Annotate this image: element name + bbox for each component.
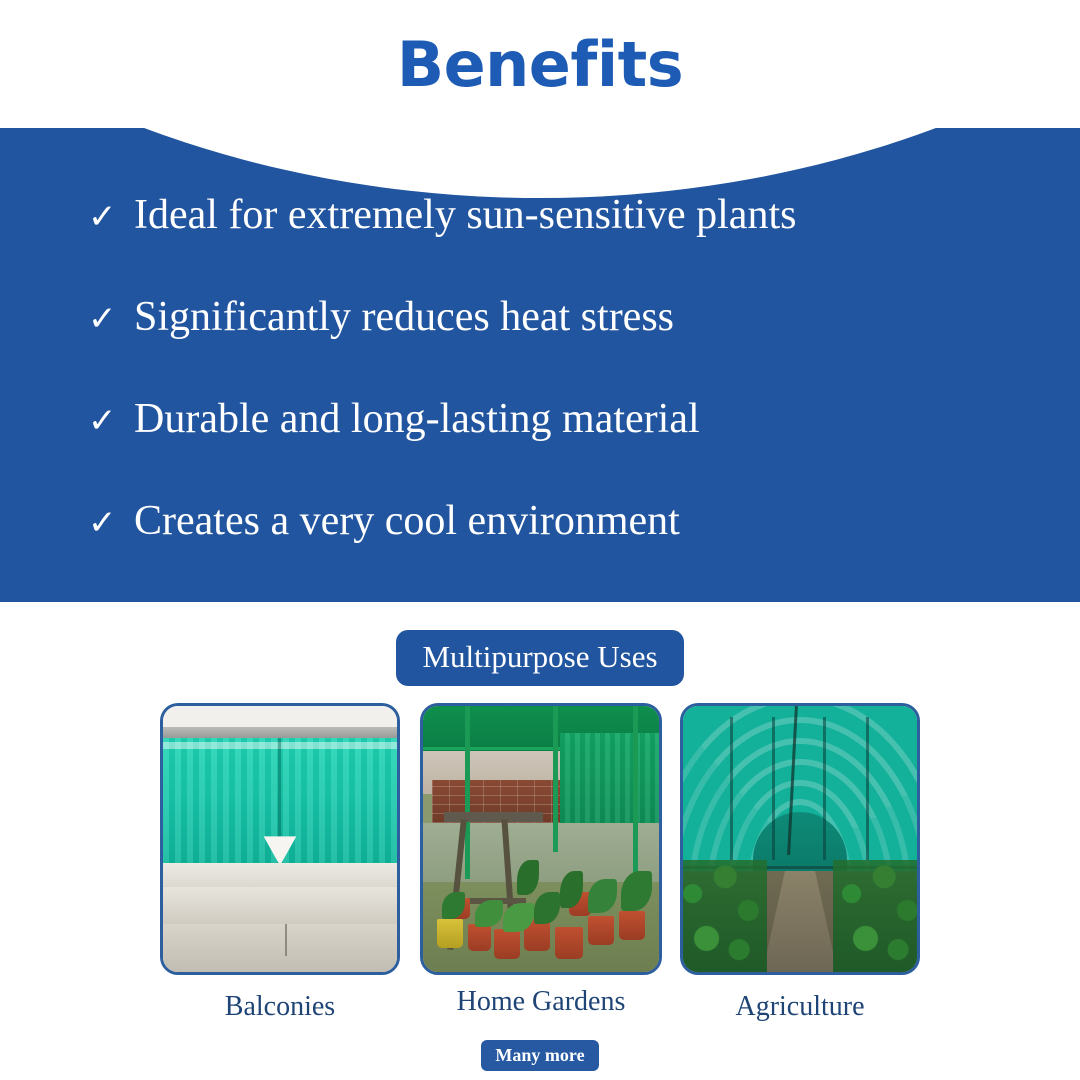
- benefit-label: Ideal for extremely sun-sensitive plants: [134, 194, 796, 236]
- use-cards-row: Balconies Home Gardens Agriculture: [0, 700, 1080, 990]
- use-card-home-gardens[interactable]: [420, 703, 662, 975]
- checkmark-icon: ✓: [88, 302, 134, 336]
- benefits-panel: ✓ Ideal for extremely sun-sensitive plan…: [0, 128, 1080, 602]
- benefit-item: ✓ Ideal for extremely sun-sensitive plan…: [88, 194, 1080, 296]
- benefit-item: ✓ Durable and long-lasting material: [88, 398, 1080, 500]
- agriculture-polytunnel-photo: [683, 706, 917, 972]
- multipurpose-uses-badge: Multipurpose Uses: [396, 630, 683, 686]
- benefit-item: ✓ Creates a very cool environment: [88, 500, 1080, 602]
- benefits-list: ✓ Ideal for extremely sun-sensitive plan…: [0, 128, 1080, 602]
- checkmark-icon: ✓: [88, 200, 134, 234]
- benefit-label: Durable and long-lasting material: [134, 398, 700, 440]
- use-card-balconies[interactable]: [160, 703, 400, 975]
- use-card-agriculture[interactable]: [680, 703, 920, 975]
- benefit-item: ✓ Significantly reduces heat stress: [88, 296, 1080, 398]
- benefit-label: Creates a very cool environment: [134, 500, 680, 542]
- benefit-label: Significantly reduces heat stress: [134, 296, 674, 338]
- checkmark-icon: ✓: [88, 506, 134, 540]
- many-more-badge: Many more: [481, 1040, 598, 1071]
- checkmark-icon: ✓: [88, 404, 134, 438]
- home-garden-shade-net-photo: [423, 706, 659, 972]
- many-more-section: Many more: [0, 1040, 1080, 1071]
- use-card-caption-agriculture: Agriculture: [680, 993, 920, 1021]
- page-title: Benefits: [397, 34, 683, 96]
- header: Benefits: [0, 0, 1080, 130]
- use-card-caption-balconies: Balconies: [160, 993, 400, 1021]
- balcony-shade-net-photo: [163, 706, 397, 972]
- multipurpose-uses-section-header: Multipurpose Uses: [0, 630, 1080, 686]
- use-card-caption-home-gardens: Home Gardens: [420, 988, 662, 1016]
